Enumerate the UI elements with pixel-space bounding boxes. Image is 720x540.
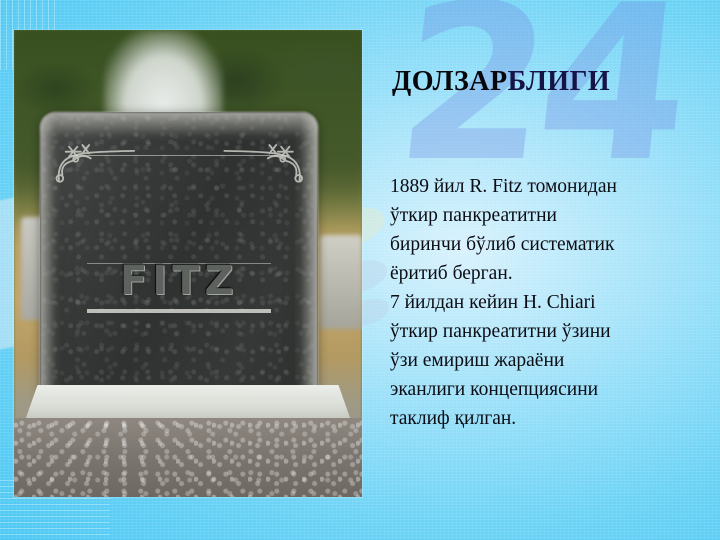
engraved-surname: FITZ: [87, 258, 271, 304]
body-line: ўткир панкреатитни: [390, 201, 690, 230]
body-line: таклиф қилган.: [390, 404, 690, 433]
photo-sky-patch: [104, 30, 222, 123]
photo-background-gravestone-right: [320, 235, 362, 328]
slide-title-segment-dark: ДОЛЗАР: [392, 66, 508, 97]
body-line: биринчи бўлиб систематик: [390, 230, 690, 259]
body-line: ўзи емириш жараёни: [390, 346, 690, 375]
floral-scroll-ornament-mirrored-icon: [221, 135, 305, 185]
body-line: ёритиб берган.: [390, 259, 690, 288]
slide-body-text: 1889 йил R. Fitz томонидан ўткир панкреа…: [390, 172, 690, 433]
body-line: ўткир панкреатитни ўзини: [390, 317, 690, 346]
slide-title: ДОЛЗАРБЛИГИ: [392, 66, 610, 98]
gravel-foreground: [14, 418, 362, 497]
body-line: эканлиги концепциясини: [390, 375, 690, 404]
slide-title-segment-navy: БЛИГИ: [508, 66, 611, 97]
floral-scroll-ornament-icon: [54, 135, 138, 185]
presentation-slide: Mul 24: [0, 0, 720, 540]
body-line: 7 йилдан кейин H. Chiari: [390, 288, 690, 317]
headstone-photo: FITZ: [14, 30, 362, 497]
body-line: 1889 йил R. Fitz томонидан: [390, 172, 690, 201]
